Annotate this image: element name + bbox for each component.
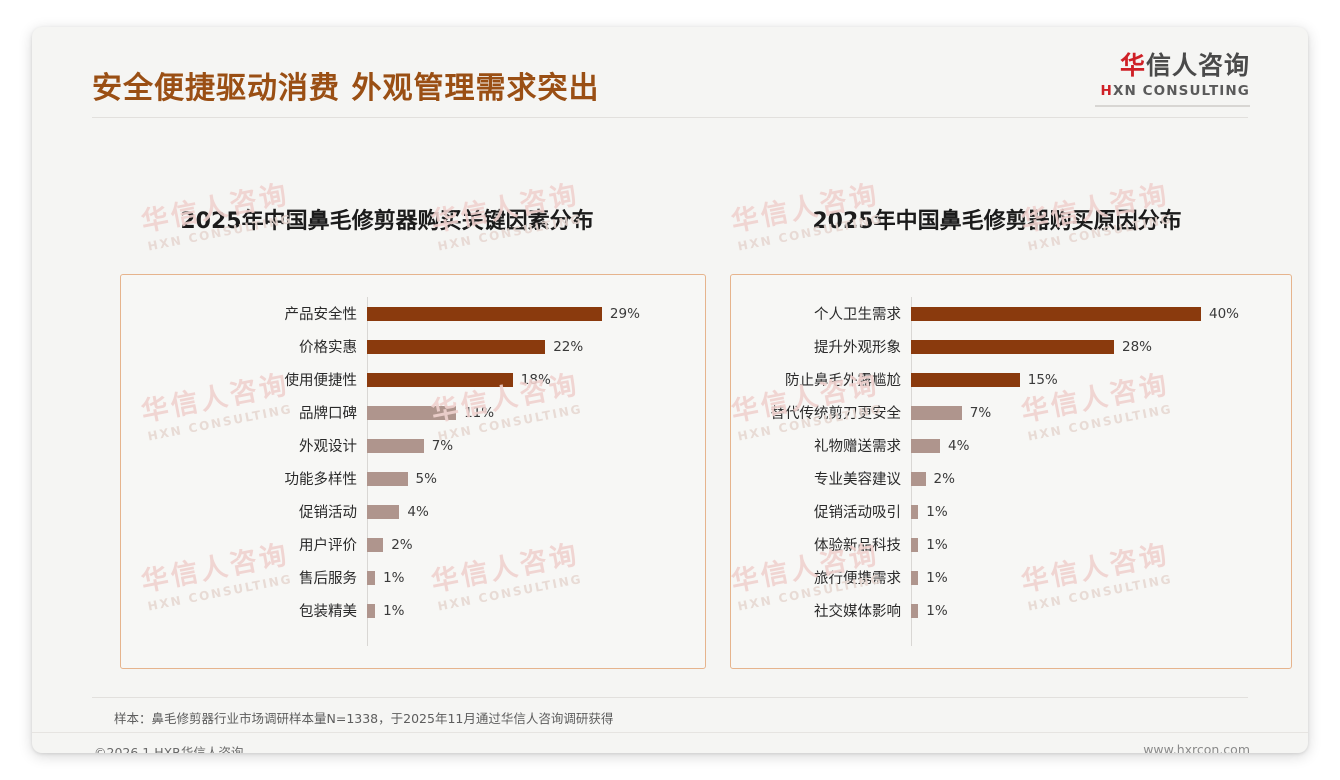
chart-bar-row: 替代传统剪刀更安全7% (731, 396, 1291, 429)
chart-bar-value: 1% (918, 537, 947, 553)
chart-bar-value: 29% (602, 306, 640, 322)
logo-english-text: HXN CONSULTING (1095, 85, 1250, 99)
chart-bar (367, 340, 545, 354)
chart-bar-row: 价格实惠22% (121, 330, 705, 363)
chart-bar-value: 1% (918, 603, 947, 619)
chart-bar-row: 使用便捷性18% (121, 363, 705, 396)
chart-bar (367, 307, 602, 321)
chart-bar (367, 538, 383, 552)
chart-category-label: 包装精美 (121, 600, 367, 621)
chart-bar (367, 604, 375, 618)
page-title: 安全便捷驱动消费 外观管理需求突出 (92, 63, 599, 107)
chart-category-label: 品牌口碑 (121, 402, 367, 423)
chart-bar-value: 2% (383, 537, 412, 553)
chart-category-label: 产品安全性 (121, 303, 367, 324)
chart-bar-row: 功能多样性5% (121, 462, 705, 495)
chart-panel-right: 个人卫生需求40%提升外观形象28%防止鼻毛外露尴尬15%替代传统剪刀更安全7%… (730, 274, 1292, 669)
chart-category-label: 替代传统剪刀更安全 (731, 402, 911, 423)
chart-category-label: 价格实惠 (121, 336, 367, 357)
chart-rows-left: 产品安全性29%价格实惠22%使用便捷性18%品牌口碑11%外观设计7%功能多样… (121, 297, 705, 627)
chart-bar-row: 防止鼻毛外露尴尬15% (731, 363, 1291, 396)
chart-bar (367, 406, 456, 420)
chart-bar-value: 28% (1114, 339, 1152, 355)
logo-chinese-first-char: 华 (1120, 51, 1146, 80)
chart-category-label: 使用便捷性 (121, 369, 367, 390)
logo-english-first-char: H (1101, 83, 1113, 99)
brand-logo: 华信人咨询 HXN CONSULTING (1095, 53, 1250, 107)
chart-bar (911, 406, 962, 420)
header-divider (92, 117, 1248, 118)
chart-bar (911, 571, 918, 585)
chart-category-label: 售后服务 (121, 567, 367, 588)
footnote-text: 样本：鼻毛修剪器行业市场调研样本量N=1338，于2025年11月通过华信人咨询… (114, 708, 613, 727)
chart-bar-row: 品牌口碑11% (121, 396, 705, 429)
chart-bar-row: 产品安全性29% (121, 297, 705, 330)
chart-title-left: 2025年中国鼻毛修剪器购买关键因素分布 (90, 203, 684, 235)
chart-category-label: 外观设计 (121, 435, 367, 456)
logo-english-rest: XN CONSULTING (1113, 83, 1250, 99)
chart-bar-value: 22% (545, 339, 583, 355)
chart-bar-value: 7% (424, 438, 453, 454)
footer-copyright: ©2026.1 HXR华信人咨询 (94, 742, 243, 753)
chart-bar-row: 促销活动吸引1% (731, 495, 1291, 528)
logo-underline (1095, 105, 1250, 107)
chart-bar (911, 538, 918, 552)
chart-bar (911, 340, 1114, 354)
chart-bar-value: 1% (375, 603, 404, 619)
footer-website[interactable]: www.hxrcon.com (1143, 742, 1250, 753)
chart-category-label: 体验新品科技 (731, 534, 911, 555)
logo-chinese-text: 华信人咨询 (1095, 53, 1250, 78)
chart-bar-row: 社交媒体影响1% (731, 594, 1291, 627)
chart-category-label: 个人卫生需求 (731, 303, 911, 324)
chart-category-label: 礼物赠送需求 (731, 435, 911, 456)
chart-bar-row: 礼物赠送需求4% (731, 429, 1291, 462)
footer-divider (32, 732, 1308, 733)
chart-bar-row: 个人卫生需求40% (731, 297, 1291, 330)
chart-bar-row: 旅行便携需求1% (731, 561, 1291, 594)
chart-bar-row: 用户评价2% (121, 528, 705, 561)
chart-bar-row: 提升外观形象28% (731, 330, 1291, 363)
chart-category-label: 促销活动 (121, 501, 367, 522)
chart-category-label: 促销活动吸引 (731, 501, 911, 522)
chart-bar (911, 604, 918, 618)
chart-bar-row: 体验新品科技1% (731, 528, 1291, 561)
chart-category-label: 旅行便携需求 (731, 567, 911, 588)
chart-bar-row: 外观设计7% (121, 429, 705, 462)
chart-bar-value: 15% (1020, 372, 1058, 388)
chart-bar-row: 专业美容建议2% (731, 462, 1291, 495)
chart-panel-left: 产品安全性29%价格实惠22%使用便捷性18%品牌口碑11%外观设计7%功能多样… (120, 274, 706, 669)
chart-category-label: 功能多样性 (121, 468, 367, 489)
chart-category-label: 社交媒体影响 (731, 600, 911, 621)
chart-bar-row: 售后服务1% (121, 561, 705, 594)
chart-bar (367, 439, 424, 453)
chart-category-label: 提升外观形象 (731, 336, 911, 357)
chart-category-label: 用户评价 (121, 534, 367, 555)
chart-bar-row: 包装精美1% (121, 594, 705, 627)
chart-bar (367, 373, 513, 387)
footnote-divider (92, 697, 1248, 698)
chart-bar (367, 505, 399, 519)
chart-bar-value: 18% (513, 372, 551, 388)
chart-bar (911, 373, 1020, 387)
chart-bar (911, 307, 1201, 321)
chart-bar-value: 2% (926, 471, 955, 487)
chart-bar (367, 571, 375, 585)
chart-bar-row: 促销活动4% (121, 495, 705, 528)
logo-chinese-rest: 信人咨询 (1146, 51, 1250, 80)
chart-title-right: 2025年中国鼻毛修剪器购买原因分布 (700, 203, 1294, 235)
chart-bar-value: 5% (408, 471, 437, 487)
chart-bar (911, 439, 940, 453)
slide-card: 安全便捷驱动消费 外观管理需求突出 华信人咨询 HXN CONSULTING 2… (32, 27, 1308, 753)
chart-bar-value: 4% (940, 438, 969, 454)
chart-bar (911, 472, 926, 486)
chart-rows-right: 个人卫生需求40%提升外观形象28%防止鼻毛外露尴尬15%替代传统剪刀更安全7%… (731, 297, 1291, 627)
chart-bar-value: 1% (918, 504, 947, 520)
chart-bar-value: 4% (399, 504, 428, 520)
chart-bar-value: 11% (456, 405, 494, 421)
chart-category-label: 防止鼻毛外露尴尬 (731, 369, 911, 390)
chart-bar-value: 1% (375, 570, 404, 586)
chart-bar-value: 7% (962, 405, 991, 421)
chart-bar-value: 1% (918, 570, 947, 586)
chart-bar (367, 472, 408, 486)
chart-bar-value: 40% (1201, 306, 1239, 322)
chart-bar (911, 505, 918, 519)
chart-category-label: 专业美容建议 (731, 468, 911, 489)
